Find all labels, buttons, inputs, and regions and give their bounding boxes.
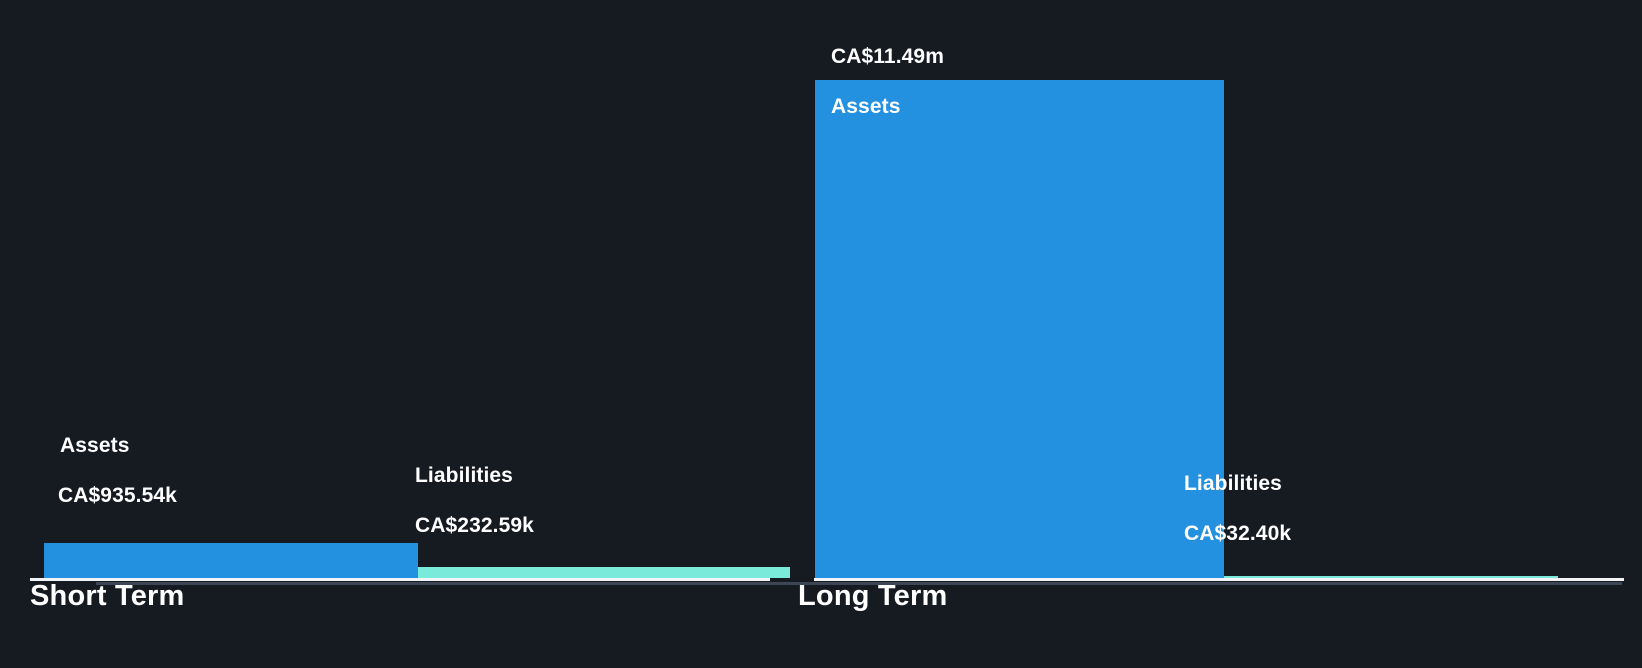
financial-position-chart: Assets CA$935.54k Liabilities CA$232.59k…: [0, 0, 1642, 668]
bar-short-term-assets[interactable]: [44, 543, 418, 578]
label-short-term-liabilities-value: CA$232.59k: [415, 514, 534, 538]
label-long-term-assets-name: Assets: [831, 95, 900, 119]
label-short-term-liabilities-name: Liabilities: [415, 464, 513, 488]
caption-short-term: Short Term: [30, 580, 185, 613]
caption-long-term: Long Term: [798, 580, 947, 613]
label-long-term-assets-value: CA$11.49m: [831, 45, 944, 69]
bar-short-term-liabilities[interactable]: [418, 567, 790, 578]
plot-area-short-term: Assets CA$935.54k Liabilities CA$232.59k: [0, 0, 798, 578]
label-short-term-assets-name: Assets: [60, 434, 129, 458]
label-short-term-assets-value: CA$935.54k: [58, 484, 177, 508]
label-long-term-liabilities-value: CA$32.40k: [1184, 522, 1291, 546]
panel-long-term: CA$11.49m Assets Liabilities CA$32.40k L…: [798, 0, 1642, 668]
panel-short-term: Assets CA$935.54k Liabilities CA$232.59k…: [0, 0, 798, 668]
bar-long-term-assets[interactable]: [815, 80, 1224, 578]
label-long-term-liabilities-name: Liabilities: [1184, 472, 1282, 496]
baseline-shadow-line: [96, 582, 798, 585]
plot-area-long-term: CA$11.49m Assets Liabilities CA$32.40k: [798, 0, 1642, 578]
